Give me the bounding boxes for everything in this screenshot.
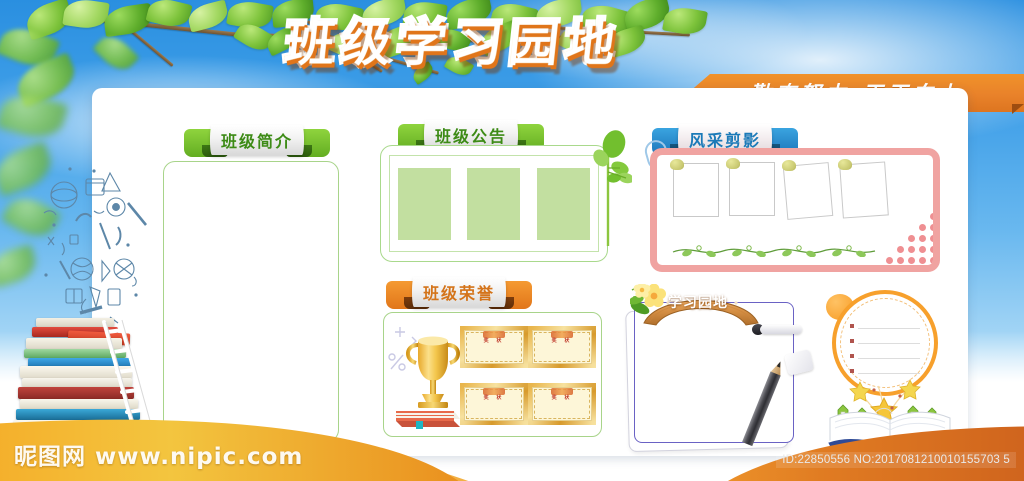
watermark-right: ID:22850556 NO:2017081210010155703 5: [776, 452, 1016, 468]
poster-canvas: 班级学习园地 班级学习园地 勤奋努力·天天向上: [0, 0, 1024, 481]
binder-clip-icon: [760, 325, 802, 334]
photo-clip-icon: [670, 159, 684, 170]
section-header-intro: 班级简介: [184, 123, 330, 159]
photo-wall-box[interactable]: [650, 148, 940, 272]
leaf-icon: [62, 0, 109, 31]
section-label-intro: 班级简介: [210, 125, 304, 155]
note-bullet: [850, 324, 854, 328]
notice-placeholder[interactable]: [398, 168, 451, 240]
note-bullet: [850, 339, 854, 343]
certificate-label: 奖 状: [464, 337, 524, 344]
section-label-study: 学习园地: [668, 292, 728, 312]
note-line: [858, 328, 920, 329]
notice-inner-frame: [389, 155, 599, 252]
leaf-icon: [186, 0, 231, 32]
pink-dots-decoration: [873, 213, 937, 271]
sprout-icon: [592, 128, 632, 246]
notice-placeholder[interactable]: [537, 168, 590, 240]
photo-placeholder[interactable]: [673, 163, 719, 217]
flower-icon: [630, 284, 674, 320]
photo-placeholder[interactable]: [839, 161, 889, 218]
section-label-honor: 班级荣誉: [412, 277, 506, 307]
photo-clip-icon: [838, 159, 852, 170]
photo-clip-icon: [726, 158, 740, 169]
notice-placeholder[interactable]: [467, 168, 520, 240]
leaf-icon: [0, 88, 68, 144]
note-line: [858, 343, 920, 344]
section-header-honor: 班级荣誉: [386, 275, 532, 311]
photo-clip-icon: [782, 160, 796, 171]
watermark-left: 昵图网 www.nipic.com: [14, 437, 303, 471]
leaf-icon: [93, 30, 140, 76]
vine-icon: [671, 243, 877, 257]
notice-content-box[interactable]: [380, 145, 608, 262]
certificate-item[interactable]: 奖 状: [460, 326, 528, 368]
school-supplies-doodles-icon: [24, 165, 154, 325]
note-line: [858, 358, 920, 359]
page-title: 班级学习园地: [245, 12, 662, 74]
note-bullet: [850, 354, 854, 358]
photo-placeholder[interactable]: [729, 162, 775, 216]
certificate-item[interactable]: 奖 状: [528, 326, 596, 368]
certificate-label: 奖 状: [532, 337, 592, 344]
